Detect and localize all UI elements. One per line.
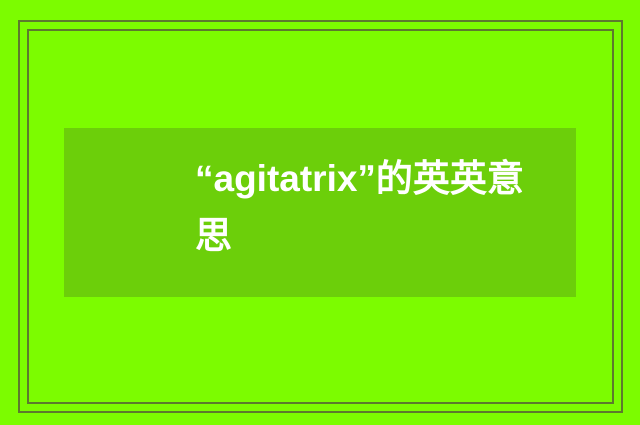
page-title: “agitatrix”的英英意思 (195, 150, 525, 264)
title-panel: “agitatrix”的英英意思 (64, 128, 576, 297)
image-card: “agitatrix”的英英意思 (0, 0, 640, 425)
